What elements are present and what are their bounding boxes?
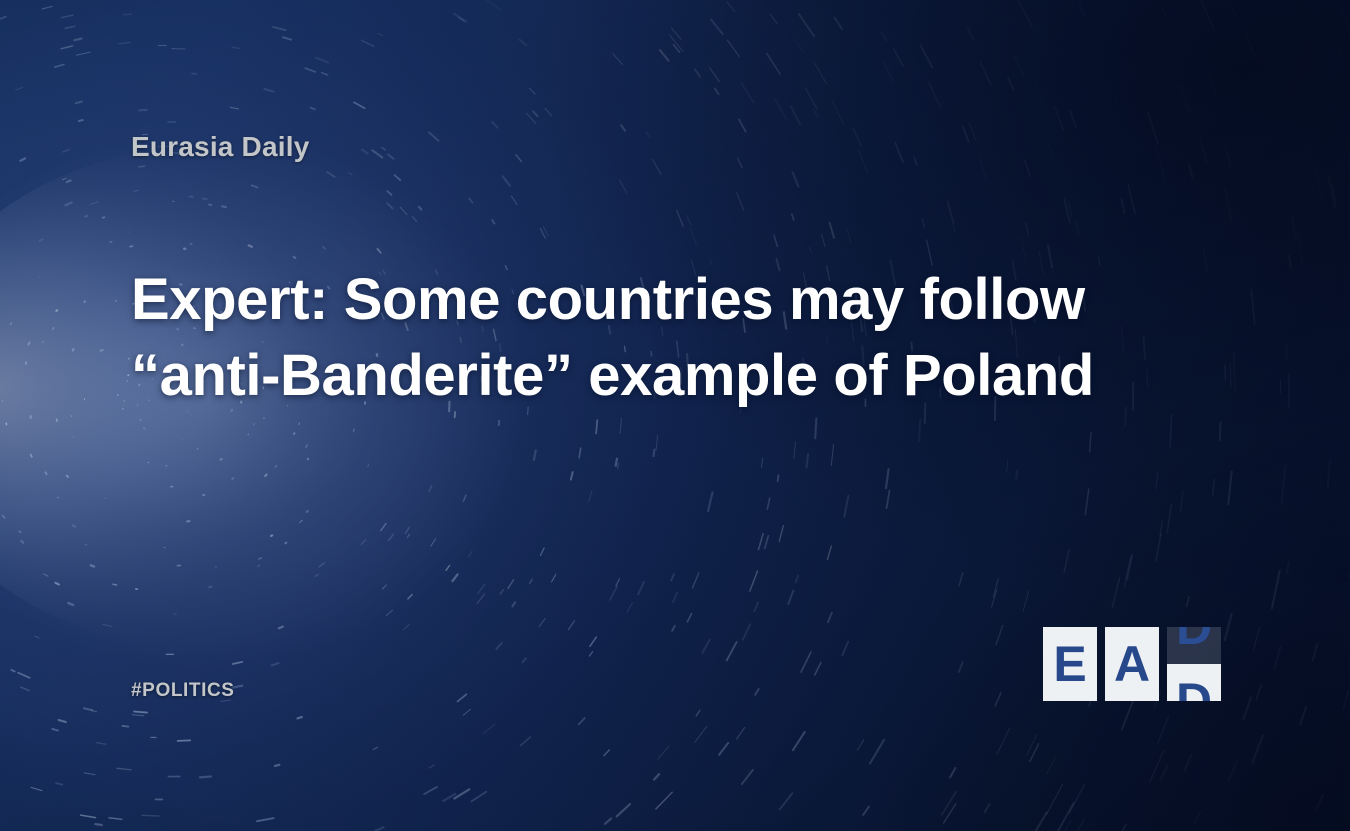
ead-logo-clip: E A D D <box>1043 627 1221 701</box>
logo-glyph-d-top: D <box>1176 627 1212 652</box>
headline-line-2: “anti-Banderite” example of Poland <box>131 338 1091 414</box>
article-headline: Expert: Some countries may follow “anti-… <box>131 262 1091 414</box>
logo-tile-d-bottom: D <box>1167 664 1221 701</box>
logo-glyph-a: A <box>1114 639 1150 689</box>
logo-glyph-e: E <box>1053 639 1086 689</box>
site-name: Eurasia Daily <box>131 133 309 161</box>
logo-tile-d-top: D <box>1167 627 1221 664</box>
ead-logo[interactable]: E A D D <box>1043 627 1221 701</box>
card-content: Eurasia Daily Expert: Some countries may… <box>0 0 1350 831</box>
logo-tile-e: E <box>1043 627 1097 701</box>
logo-glyph-d-bottom: D <box>1176 676 1212 701</box>
logo-tile-a: A <box>1105 627 1159 701</box>
headline-line-1: Expert: Some countries may follow <box>131 262 1091 338</box>
category-tag[interactable]: #POLITICS <box>131 681 235 700</box>
article-share-card: Eurasia Daily Expert: Some countries may… <box>0 0 1350 831</box>
